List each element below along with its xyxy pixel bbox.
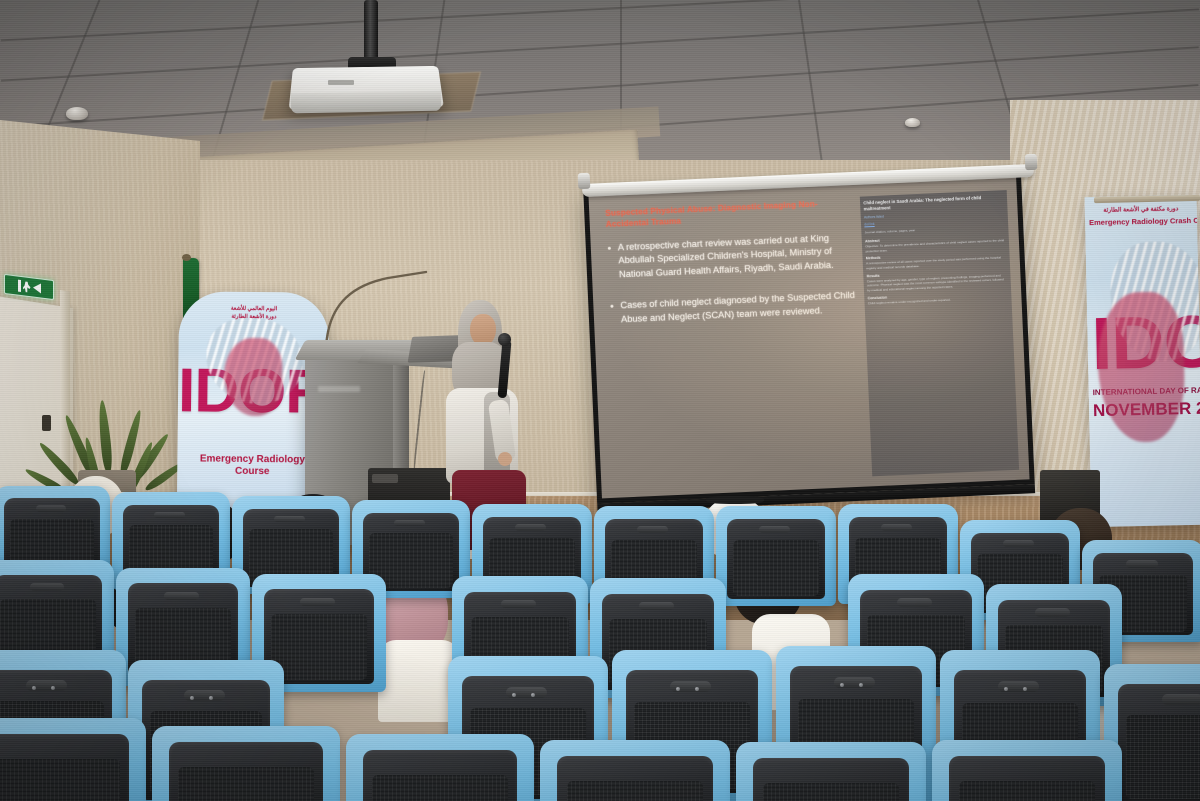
seat[interactable]: [346, 734, 534, 801]
seat[interactable]: [932, 740, 1122, 801]
exit-sign-door-icon: [18, 280, 21, 292]
slide-bullet-list: A retrospective chart review was carried…: [607, 230, 860, 327]
projector-brand-label: [328, 80, 354, 85]
slide-bullet: A retrospective chart review was carried…: [607, 230, 858, 282]
slide-bullet: Cases of child neglect diagnosed by the …: [609, 289, 859, 328]
lectern-logo: [318, 386, 360, 392]
presentation-slide: Suspected Physical Abuse: Diagnostic Ima…: [588, 176, 1029, 499]
seat[interactable]: [736, 742, 926, 801]
screen-surface: Suspected Physical Abuse: Diagnostic Ima…: [588, 176, 1029, 499]
slide-title: Suspected Physical Abuse: Diagnostic Ima…: [605, 197, 855, 231]
slide-abstract-panel: Child neglect in Saudi Arabia: The negle…: [860, 190, 1019, 476]
seat[interactable]: [540, 740, 730, 801]
banner-right-arabic: دورة مكثفة في الأشعة الطارئة: [1085, 205, 1197, 214]
projector-lens-face: [291, 91, 441, 114]
arrow-right-icon: [33, 282, 41, 293]
seat[interactable]: [152, 726, 340, 801]
running-person-icon: [23, 281, 31, 293]
door-handle[interactable]: [42, 415, 51, 431]
slide-left-column: Suspected Physical Abuse: Diagnostic Ima…: [605, 197, 866, 488]
banner-right-idor: دورة مكثفة في الأشعة الطارئة Emergency R…: [1085, 195, 1200, 527]
banner-right-course-line: Emergency Radiology Crash Course: [1085, 216, 1197, 227]
lecture-hall-photo: Suspected Physical Abuse: Diagnostic Ima…: [0, 0, 1200, 801]
lectern-side-panel: [393, 358, 409, 479]
smoke-detector-icon: [905, 118, 920, 127]
seat[interactable]: [716, 506, 836, 606]
microphone-head-icon: [498, 333, 511, 346]
flag-finial: [182, 254, 191, 261]
smoke-detector-icon: [66, 107, 88, 120]
banner-left-arabic-2: دورة الأشعة الطارئة: [179, 313, 329, 321]
igal-band-icon: [706, 496, 764, 504]
screen-roller-cap-right: [1025, 154, 1038, 171]
lectern-equipment-panel: [372, 474, 398, 483]
banner-left-arabic-1: اليوم العالمي للأشعة: [179, 305, 329, 313]
screen-roller-cap-left: [578, 173, 591, 190]
projector-mount-pole: [364, 0, 378, 62]
projection-screen: Suspected Physical Abuse: Diagnostic Ima…: [583, 170, 1035, 503]
presenter-hand: [498, 452, 512, 466]
seat[interactable]: [0, 718, 146, 801]
